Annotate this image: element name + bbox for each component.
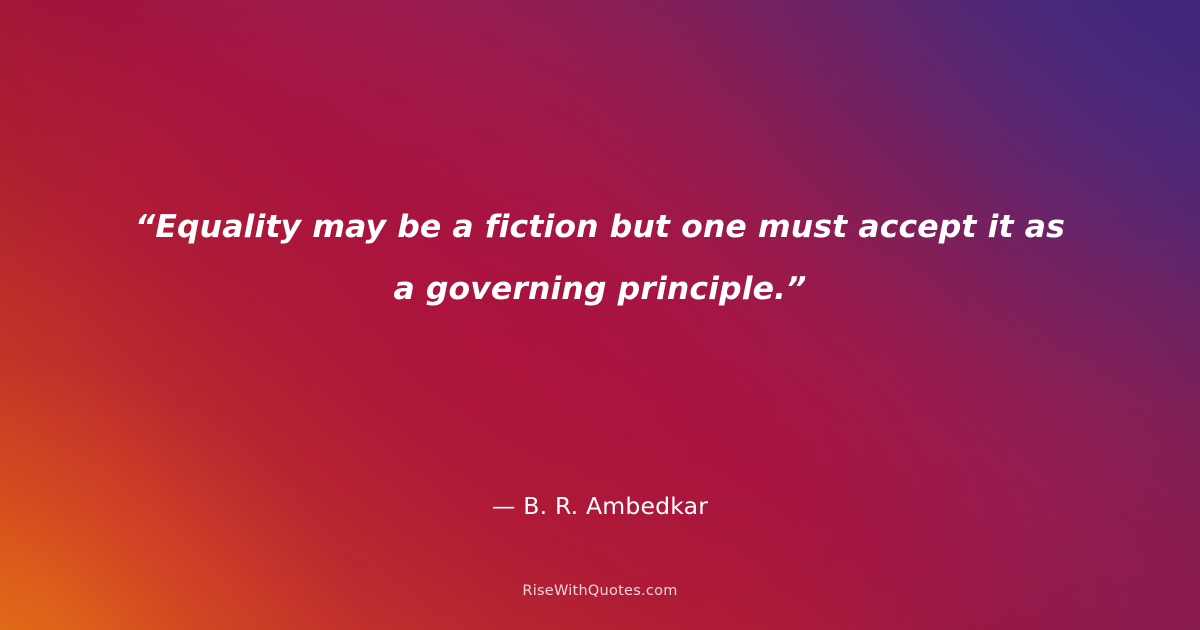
quote-attribution: — B. R. Ambedkar [0, 492, 1200, 520]
quote-card: “Equality may be a fiction but one must … [0, 0, 1200, 630]
quote-content: “Equality may be a fiction but one must … [0, 0, 1200, 630]
quote-text: “Equality may be a fiction but one must … [0, 196, 1200, 320]
site-watermark: RiseWithQuotes.com [0, 583, 1200, 599]
